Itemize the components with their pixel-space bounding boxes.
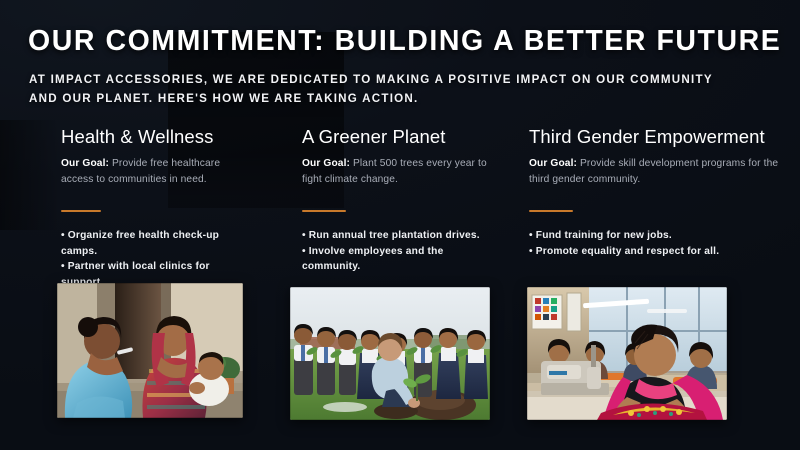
bullet-icon: • <box>61 230 65 241</box>
accent-divider <box>61 210 101 212</box>
column-bullet-list: •Fund training for new jobs. •Promote eq… <box>529 228 791 259</box>
accent-divider <box>529 210 573 212</box>
list-item: •Involve employees and the community. <box>302 244 492 275</box>
bullet-icon: • <box>302 246 306 257</box>
goal-label: Our Goal: <box>302 158 350 169</box>
goal-label: Our Goal: <box>61 158 109 169</box>
list-item-label: Promote equality and respect for all. <box>536 246 719 257</box>
column-title: Third Gender Empowerment <box>529 126 791 147</box>
background-shade-left <box>0 120 60 230</box>
list-item-label: Run annual tree plantation drives. <box>309 230 480 241</box>
slide-canvas: OUR COMMITMENT: BUILDING A BETTER FUTURE… <box>0 0 800 450</box>
accent-divider <box>302 210 346 212</box>
column-photo-planet <box>290 287 490 420</box>
list-item-label: Involve employees and the community. <box>302 246 443 273</box>
health-photo-illustration <box>57 283 243 418</box>
list-item-label: Fund training for new jobs. <box>536 230 672 241</box>
goal-label: Our Goal: <box>529 158 577 169</box>
column-title: Health & Wellness <box>61 126 251 147</box>
list-item: •Promote equality and respect for all. <box>529 244 791 260</box>
column-photo-health <box>57 283 243 418</box>
column-goal: Our Goal: Provide free healthcare access… <box>61 156 251 187</box>
planet-photo-illustration <box>290 287 490 420</box>
bullet-icon: • <box>529 246 533 257</box>
column-goal: Our Goal: Plant 500 trees every year to … <box>302 156 492 187</box>
page-subtitle: AT IMPACT ACCESSORIES, WE ARE DEDICATED … <box>29 71 741 109</box>
list-item: •Organize free health check-up camps. <box>61 228 251 259</box>
bullet-icon: • <box>61 261 65 272</box>
column-goal: Our Goal: Provide skill development prog… <box>529 156 791 187</box>
commitment-column-health: Health & Wellness Our Goal: Provide free… <box>61 126 251 290</box>
page-title: OUR COMMITMENT: BUILDING A BETTER FUTURE <box>28 27 782 57</box>
list-item: •Fund training for new jobs. <box>529 228 791 244</box>
empowerment-photo-illustration <box>527 287 727 420</box>
commitment-column-planet: A Greener Planet Our Goal: Plant 500 tre… <box>302 126 492 275</box>
bullet-icon: • <box>302 230 306 241</box>
column-photo-empowerment <box>527 287 727 420</box>
column-bullet-list: •Organize free health check-up camps. •P… <box>61 228 251 290</box>
commitment-column-empowerment: Third Gender Empowerment Our Goal: Provi… <box>529 126 791 259</box>
column-title: A Greener Planet <box>302 126 492 147</box>
list-item: •Run annual tree plantation drives. <box>302 228 492 244</box>
list-item-label: Organize free health check-up camps. <box>61 230 219 257</box>
column-bullet-list: •Run annual tree plantation drives. •Inv… <box>302 228 492 275</box>
bullet-icon: • <box>529 230 533 241</box>
